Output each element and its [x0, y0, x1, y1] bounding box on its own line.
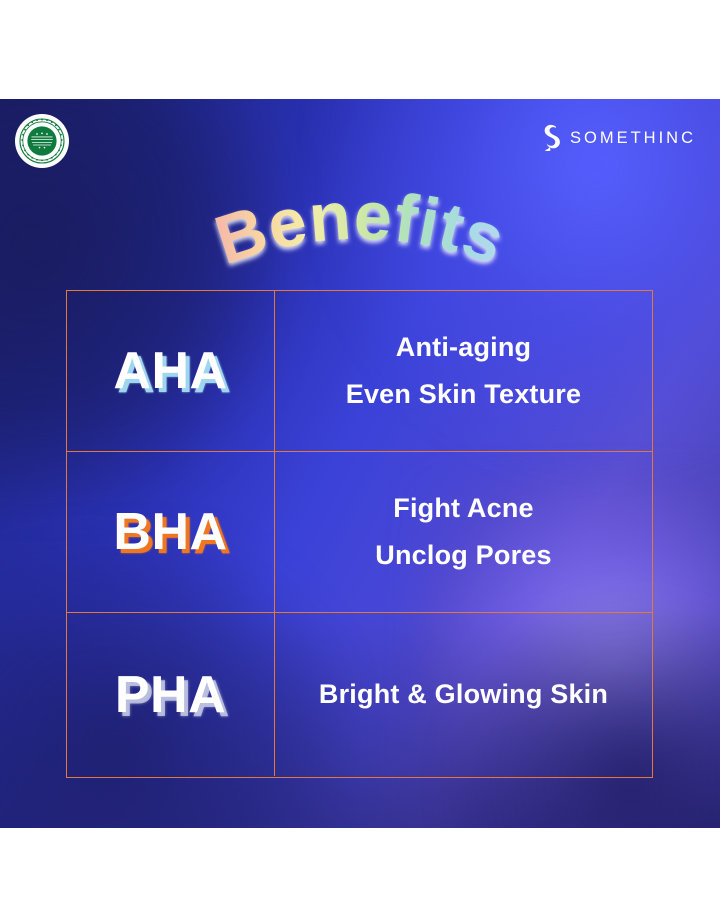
- svg-text:Benefits: Benefits: [206, 178, 514, 279]
- halal-certification-icon: [15, 114, 69, 168]
- brand-name: SOMETHINC: [570, 130, 696, 147]
- benefit-line: Bright & Glowing Skin: [319, 679, 608, 710]
- somethinc-logo-icon: [540, 123, 561, 153]
- benefit-line: Fight Acne: [393, 493, 534, 524]
- acid-cell-bha: BHA: [67, 452, 275, 612]
- benefit-line: Anti-aging: [396, 332, 531, 363]
- acid-label: PHA: [115, 669, 226, 721]
- benefit-cell-aha: Anti-aging Even Skin Texture: [275, 291, 652, 451]
- page-title-text: Benefits: [206, 178, 514, 279]
- benefits-table: AHA Anti-aging Even Skin Texture BHA Fig…: [66, 290, 653, 778]
- acid-label: BHA: [113, 506, 227, 558]
- page-title: Benefits: [0, 161, 720, 281]
- acid-label: AHA: [113, 345, 227, 397]
- benefit-cell-bha: Fight Acne Unclog Pores: [275, 452, 652, 612]
- table-row: AHA Anti-aging Even Skin Texture: [67, 291, 652, 452]
- benefit-line: Even Skin Texture: [346, 379, 581, 410]
- benefit-cell-pha: Bright & Glowing Skin: [275, 613, 652, 776]
- benefits-poster: SOMETHINC Benefits: [0, 99, 720, 828]
- brand-lockup: SOMETHINC: [540, 123, 696, 153]
- acid-cell-aha: AHA: [67, 291, 275, 451]
- benefit-line: Unclog Pores: [375, 540, 551, 571]
- table-row: BHA Fight Acne Unclog Pores: [67, 452, 652, 613]
- acid-cell-pha: PHA: [67, 613, 275, 776]
- table-row: PHA Bright & Glowing Skin: [67, 613, 652, 776]
